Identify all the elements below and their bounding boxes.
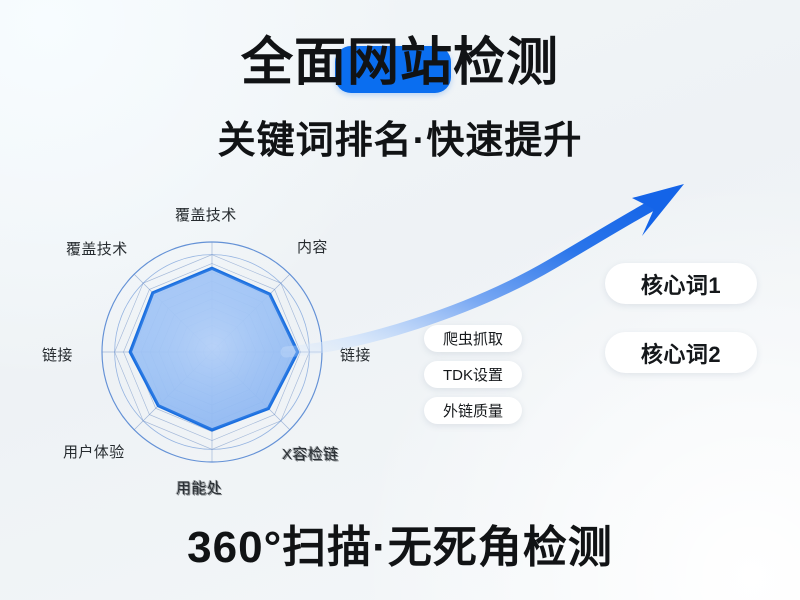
radar-label-bottom: 用能处 (176, 477, 222, 498)
tag-pill-crawl[interactable]: 爬虫抓取 (424, 325, 522, 352)
radar-label-lower-right: X容检链 (282, 443, 339, 464)
page-subtitle: 关键词排名·快速提升 (0, 118, 800, 164)
headline-container: 全面网站检测 (0, 34, 800, 96)
poster-canvas: 全面网站检测 关键词排名·快速提升 覆盖技术 内容 链接 X容检链 用能处 用户… (0, 0, 800, 600)
title-segment-highlight: 网站 (347, 34, 453, 92)
title-segment-after: 检测 (453, 34, 559, 92)
radar-label-top: 覆盖技术 (175, 204, 237, 225)
radar-label-upper-left: 覆盖技术 (66, 238, 128, 259)
keyword-pill-1[interactable]: 核心词1 (605, 263, 757, 304)
title-segment-before: 全面 (241, 34, 347, 92)
radar-label-left: 链接 (42, 344, 73, 365)
radar-inner-glow (130, 268, 297, 430)
radar-label-lower-left: 用户体验 (63, 441, 125, 462)
tag-pill-tdk[interactable]: TDK设置 (424, 361, 522, 388)
tag-pill-backlink[interactable]: 外链质量 (424, 397, 522, 424)
footer-tagline: 360°扫描·无死角检测 (0, 522, 800, 574)
page-title: 全面网站检测 (241, 34, 559, 92)
keyword-pill-2[interactable]: 核心词2 (605, 332, 757, 373)
